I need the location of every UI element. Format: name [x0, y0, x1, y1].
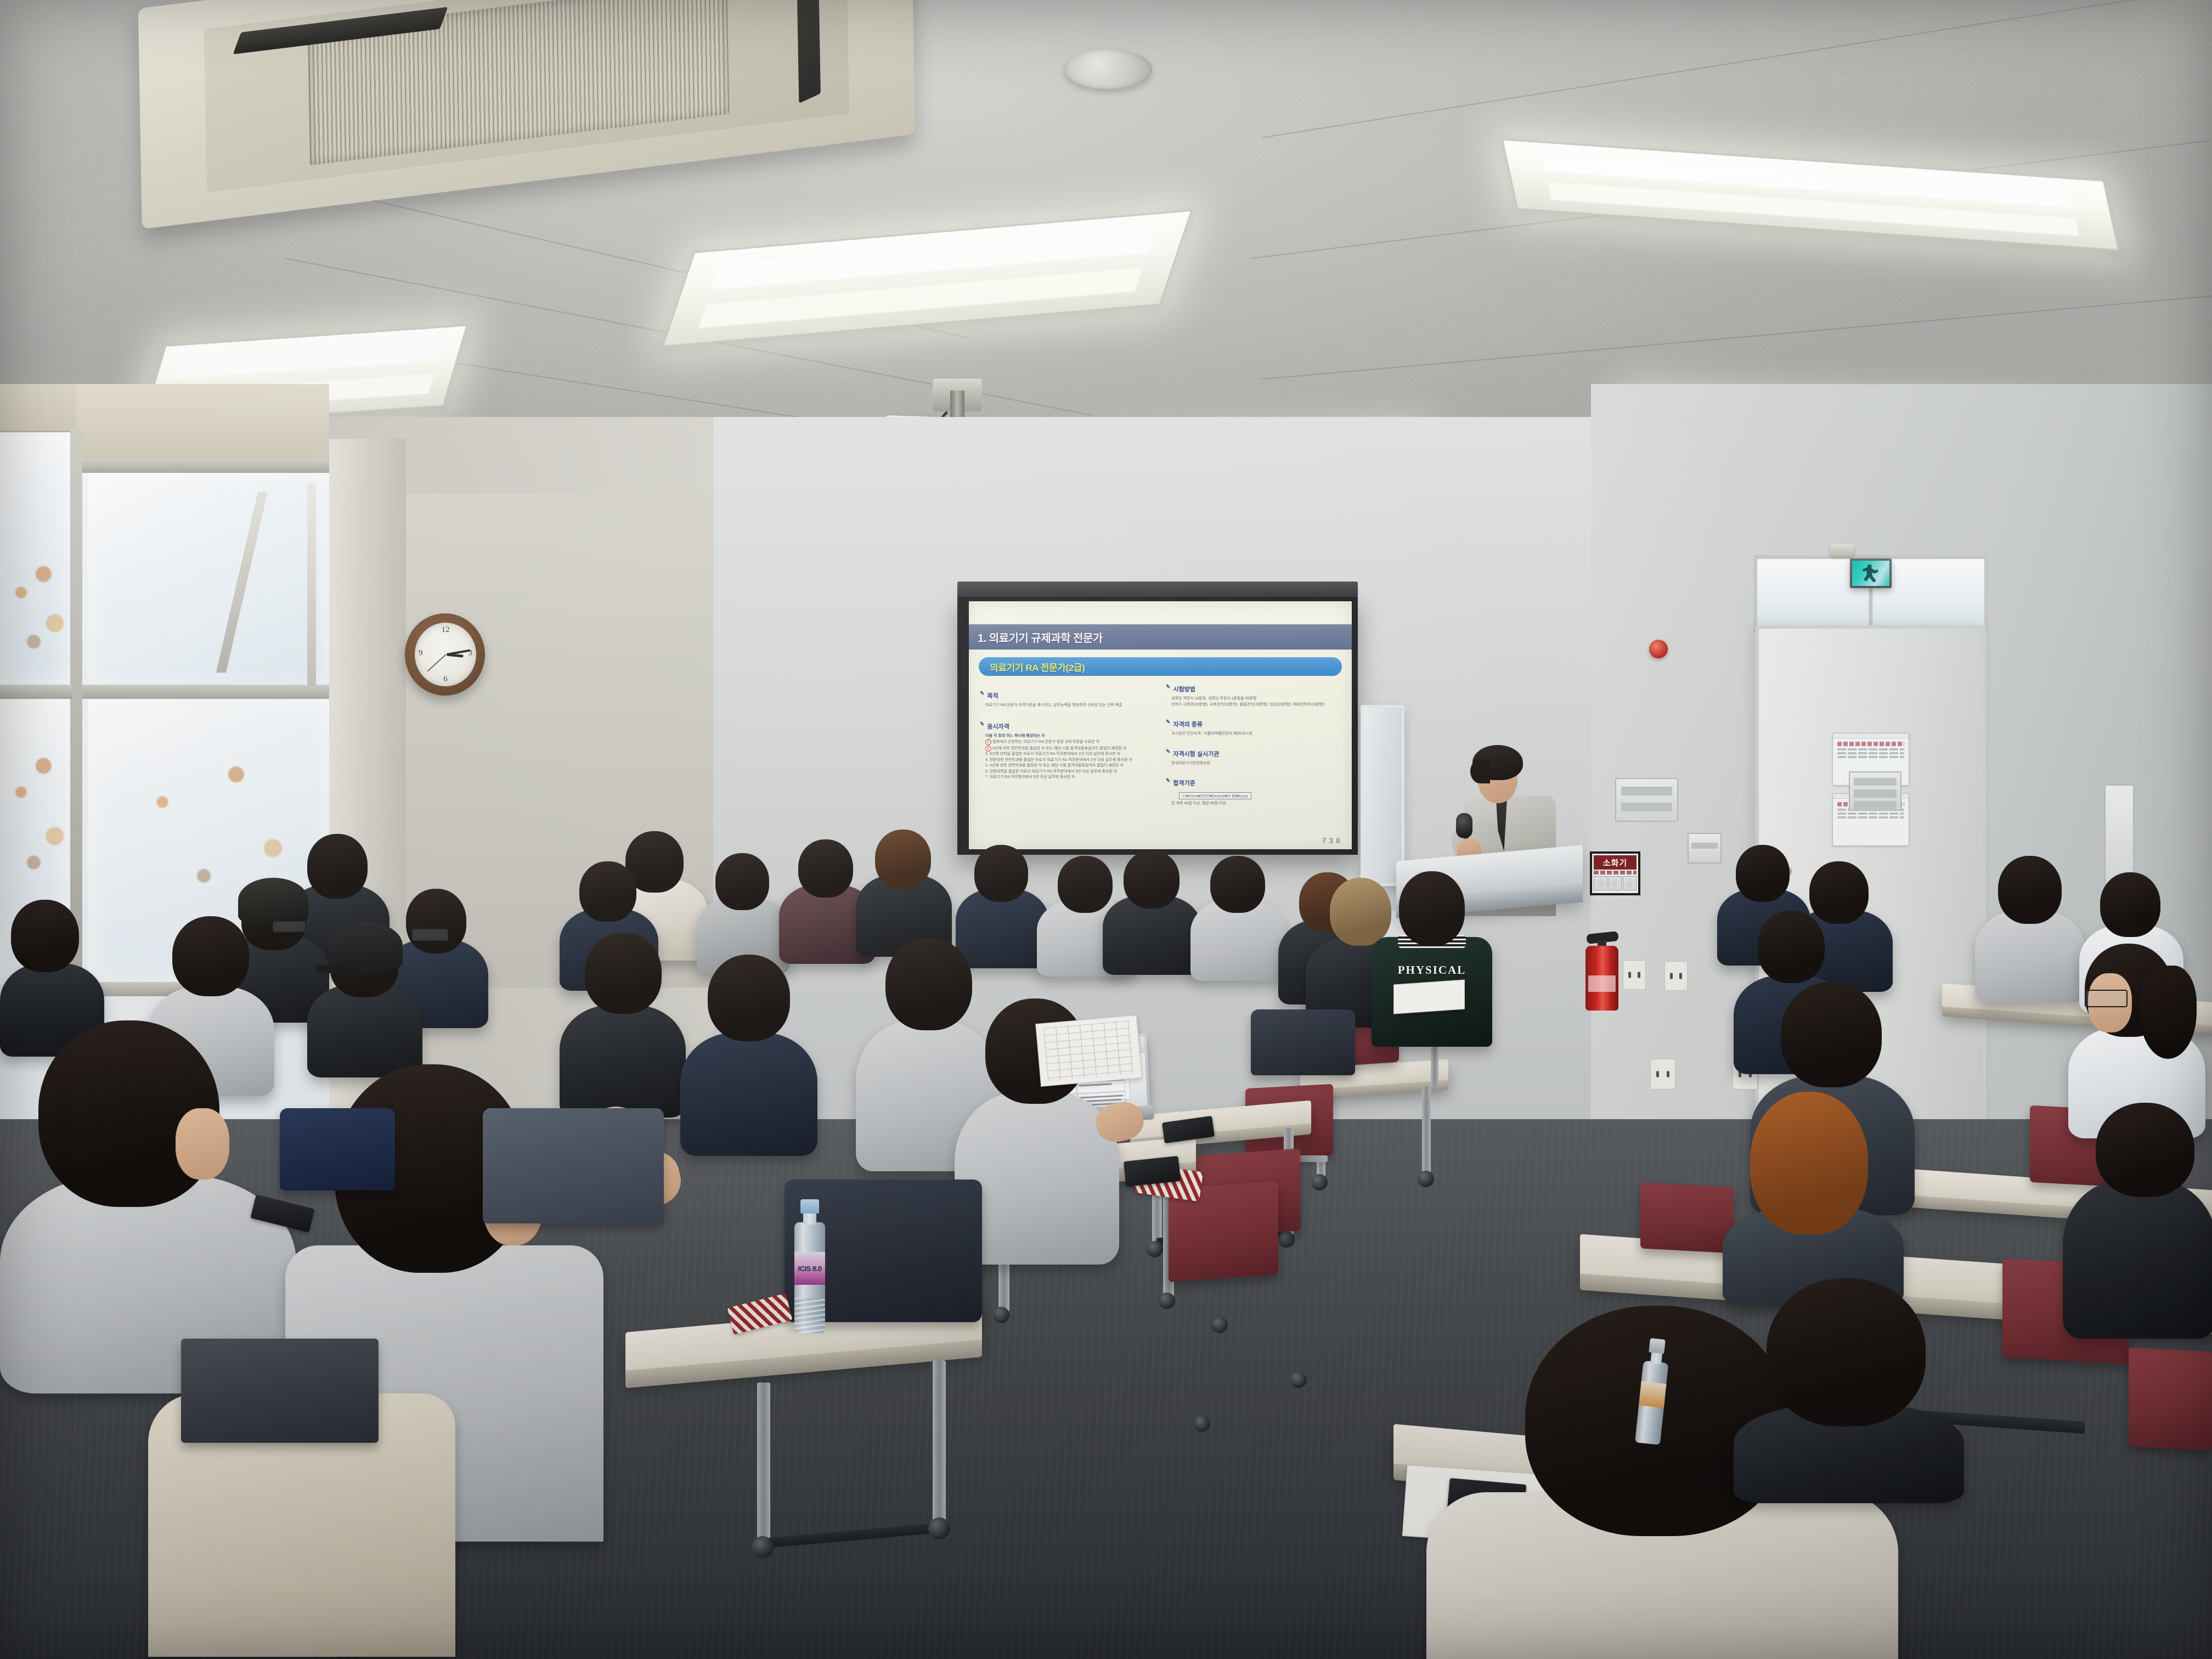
chair-caster [1211, 1317, 1228, 1333]
slide-columns: ✎ 목적 의료기기 RA 전문가 자격기준을 제시하고, 실무능력을 향상하여 … [980, 685, 1341, 831]
circled-number: 1 [985, 739, 991, 745]
desk-leg [933, 1361, 946, 1525]
student-head [715, 853, 769, 910]
bag [1251, 1009, 1355, 1075]
tree-foliage [0, 704, 70, 924]
varsity-print-top: PHYSICAL [1384, 963, 1480, 977]
chair [2129, 1347, 2212, 1451]
student-head [1758, 911, 1825, 983]
handout-paper [1035, 1015, 1142, 1087]
student-head [172, 916, 249, 996]
desk-caster [1311, 1174, 1328, 1190]
chair [1640, 1183, 1734, 1254]
student-black-puffer [2063, 1103, 2212, 1333]
pencil-bullet-icon: ✎ [1166, 685, 1170, 690]
desk-caster [928, 1517, 950, 1539]
bottle-cap [800, 1199, 819, 1214]
paper-on-desk [1393, 979, 1465, 1014]
slide-heading-test-method: ✎ 시험방법 [1166, 685, 1341, 693]
desk-leg [1422, 1086, 1431, 1174]
tree-foliage [0, 531, 70, 685]
student-foreground-left [0, 1020, 296, 1383]
student-head [11, 900, 79, 972]
student [1103, 850, 1201, 968]
student [697, 853, 790, 968]
cap-brim [316, 965, 385, 974]
chair [181, 1339, 379, 1443]
student-face [176, 1108, 229, 1180]
running-man-icon [1862, 564, 1879, 582]
chair-caster [1194, 1415, 1210, 1432]
slide-eligibility-body: 다음 각 호의 어느 하나에 해당되는 자 1협회에서 인정하는 '의료기기 R… [980, 733, 1155, 781]
window-pane-open [88, 472, 329, 691]
fire-sign-pictograms [1594, 876, 1637, 890]
slide-heading-exam-org: ✎ 자격시험 실시기관 [1166, 749, 1341, 758]
bottle-ridges [794, 1298, 825, 1333]
bottle-label: ICIS 8.0 [794, 1252, 825, 1285]
desk-caster [993, 1307, 1009, 1323]
power-outlet [1623, 960, 1646, 990]
slide-pass-criteria-body: 전 과목 40점 이상, 평균 60점 이상 [1166, 801, 1341, 807]
student-cap [307, 922, 422, 1075]
slide-heading-purpose: ✎ 목적 [980, 691, 1155, 700]
ponytail [2140, 966, 2197, 1059]
backpack [280, 1108, 395, 1190]
clock-numeral: 12 [442, 625, 450, 635]
emergency-exit-sign [1850, 558, 1892, 588]
fire-sign-label: 소화기 [1594, 855, 1637, 870]
slide-page-number: 738 [1322, 836, 1343, 845]
slide-heading-qual-type: ✎ 자격의 종류 [1166, 720, 1341, 729]
pencil-bullet-icon: ✎ [980, 722, 984, 727]
student-head [1399, 871, 1465, 946]
fire-extinguisher [1585, 928, 1618, 1011]
circled-number: 2 [985, 746, 991, 752]
door-notice-panel [1849, 771, 1901, 811]
student-head [974, 845, 1028, 902]
student-head [1998, 856, 2062, 924]
power-outlet [1650, 1059, 1675, 1090]
student [856, 830, 952, 947]
student-head [708, 955, 790, 1041]
slide-test-method-body: 과목당 객관식 18문항, 과목당 주관식 1문항을 95문항 인허가 시문관(… [1166, 696, 1341, 708]
student-torso [307, 984, 422, 1077]
student [1734, 1278, 1964, 1498]
water-bottle: ICIS 8.0 [794, 1199, 825, 1333]
slide-heading-pass-criteria: ✎ 합격기준 [1166, 778, 1341, 787]
power-outlet [1664, 961, 1688, 991]
bottle-label [1639, 1381, 1666, 1408]
student-head [798, 839, 853, 898]
student-ginger-hair [1723, 1092, 1904, 1300]
slide-right-column: ✎ 시험방법 과목당 객관식 18문항, 과목당 주관식 1문항을 95문항 인… [1166, 685, 1341, 831]
fire-alarm-bell-icon [1649, 640, 1668, 658]
exit-sign-panel [1852, 561, 1889, 586]
student-head [1750, 1092, 1868, 1234]
window-blind[interactable] [0, 384, 77, 432]
slide-section-pill: 의료기기 RA 전문가(2급) [979, 657, 1342, 676]
student-head [1124, 850, 1180, 909]
slide-qual-type-body: 국가공인 민간자격 - 식품의약품안전처 제2019-1호 [1166, 731, 1341, 737]
wall-control-panel[interactable] [1615, 778, 1678, 822]
clock-second-hand [427, 654, 447, 672]
slide-exam-org-body: 한국의료기기안전정보원 [1166, 761, 1341, 767]
window-rail [0, 685, 72, 699]
fire-extinguisher-sign: 소화기 [1590, 851, 1640, 895]
student-head [585, 933, 662, 1014]
student-head [1781, 982, 1882, 1087]
desk-leg [757, 1383, 770, 1542]
pencil-bullet-icon: ✎ [1166, 720, 1170, 725]
desk-caster [1278, 1231, 1295, 1248]
slide-heading-eligibility: ✎ 응시자격 [980, 722, 1155, 731]
bottle-cap [1649, 1338, 1666, 1354]
handout-grid [1043, 1020, 1134, 1081]
student [1190, 856, 1286, 974]
student-torso [2063, 1180, 2212, 1339]
pencil-bullet-icon: ✎ [980, 691, 984, 697]
pencil-bullet-icon: ✎ [1166, 749, 1170, 755]
eyeglasses [2085, 990, 2128, 1007]
ceiling-speaker [1064, 49, 1152, 89]
window-blind[interactable] [71, 384, 329, 467]
ac-vent [797, 0, 821, 103]
wall-switch-panel[interactable] [1688, 833, 1722, 864]
baseball-cap [328, 922, 403, 970]
chair-caster [1290, 1372, 1307, 1388]
student-head [1767, 1278, 1926, 1426]
student [680, 955, 817, 1152]
microphone-icon [1456, 813, 1472, 838]
emergency-light-icon [1830, 544, 1854, 556]
student-head [1736, 845, 1790, 902]
student-head [2096, 1103, 2194, 1197]
clock-numeral: 6 [443, 675, 448, 684]
clock-face: 12 3 6 9 [415, 623, 476, 686]
pencil-bullet-icon: ✎ [1166, 778, 1170, 784]
slide-title: 1. 의료기기 규제과학 전문가 [969, 624, 1352, 650]
desk-caster [1147, 1241, 1163, 1257]
denim-bag [483, 1108, 664, 1223]
student-torso [680, 1032, 817, 1156]
file-path-tooltip: C:₩Users₩김상민₩Desktop₩사 물[₩5].png [1179, 792, 1251, 799]
eyeglasses [272, 921, 306, 933]
wall-clock: 12 3 6 9 [405, 613, 485, 696]
classroom-photo: 12 3 6 9 1. 의료기기 규제과학 전문가 의료기기 RA 전문가(2급… [0, 0, 2212, 1659]
slide-left-column: ✎ 목적 의료기기 RA 전문가 자격기준을 제시하고, 실무능력을 향상하여 … [980, 685, 1155, 831]
student-head [1210, 856, 1265, 913]
bottle-neck [803, 1212, 816, 1224]
student-head [2100, 872, 2160, 937]
presenter-hair [1472, 745, 1523, 780]
desk-caster [752, 1536, 774, 1558]
whiteboard [1361, 705, 1404, 886]
student-varsity: PHYSICAL THERAPY [1372, 871, 1492, 1047]
desk-caster [1159, 1293, 1175, 1309]
desk-caster [1418, 1171, 1434, 1187]
student-head [875, 830, 931, 889]
clock-numeral: 9 [419, 648, 423, 658]
window-rail [82, 460, 329, 473]
window-jamb [307, 483, 316, 686]
slide-purpose-body: 의료기기 RA 전문가 자격기준을 제시하고, 실무능력을 향상하여 신뢰성 있… [980, 703, 1155, 709]
student-head [579, 861, 636, 922]
window-rail [82, 685, 329, 699]
slide-surface: 1. 의료기기 규제과학 전문가 의료기기 RA 전문가(2급) ✎ 목적 의료… [969, 601, 1352, 849]
window-pane [0, 432, 70, 685]
